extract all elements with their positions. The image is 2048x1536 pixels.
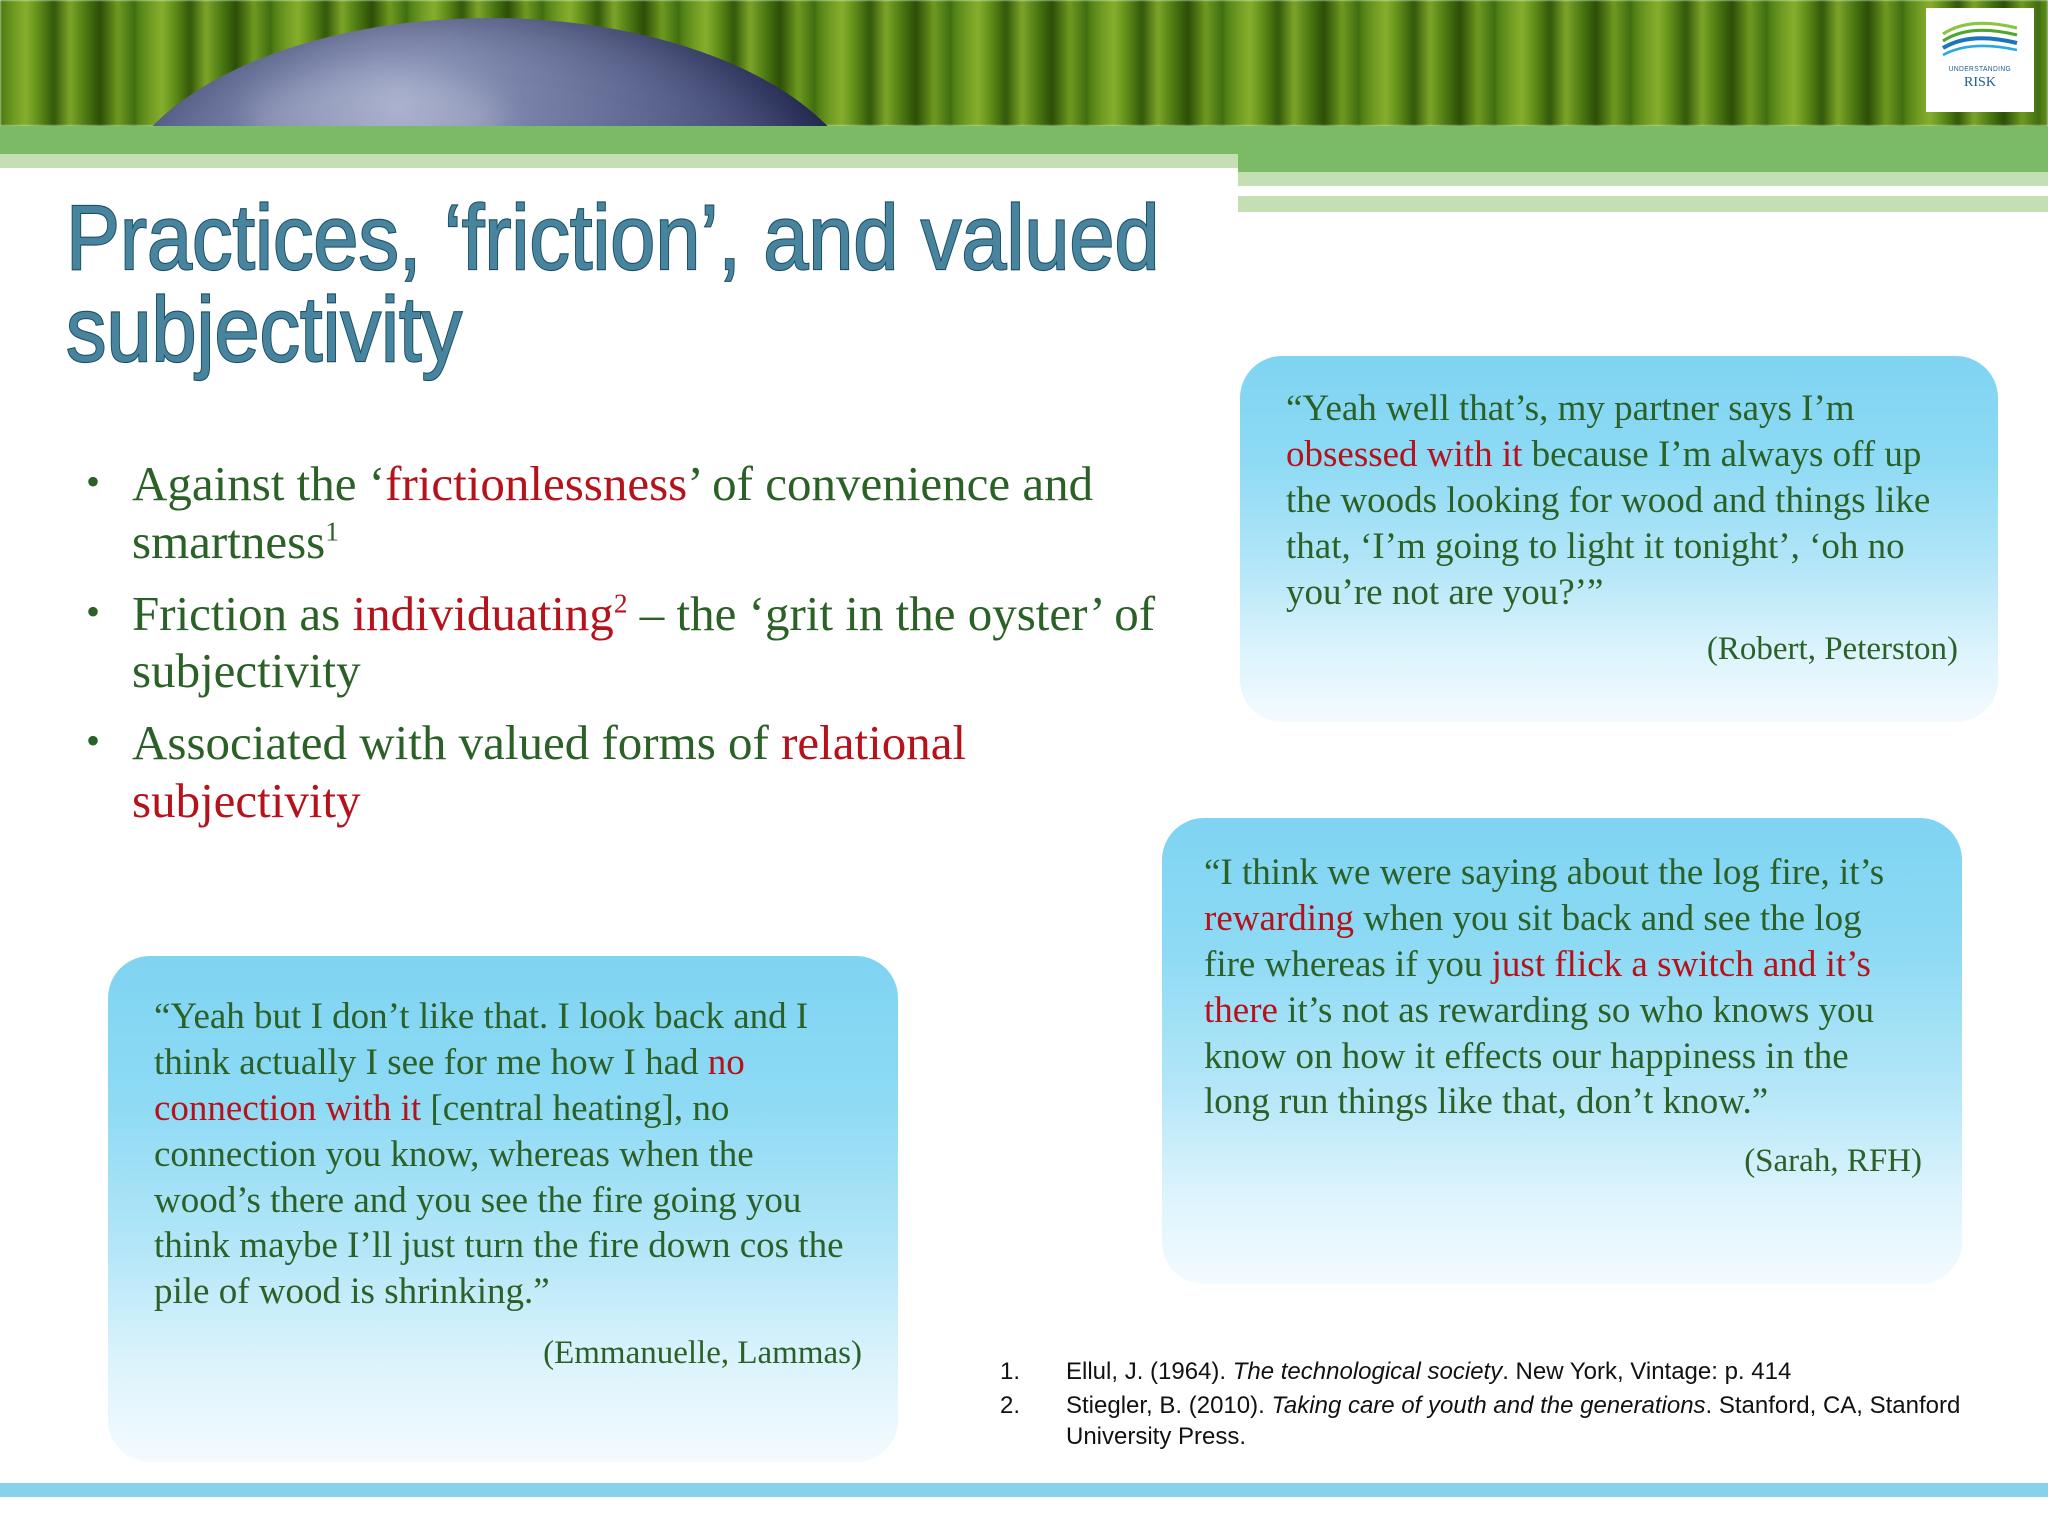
quote-attribution: (Robert, Peterston) bbox=[1286, 631, 1958, 668]
quote-box-emmanuelle: “Yeah but I don’t like that. I look back… bbox=[108, 956, 898, 1462]
green-band-right bbox=[1238, 126, 2048, 172]
bullet-text: Against the ‘frictionlessness’ of conven… bbox=[132, 455, 1176, 571]
quote-text: “Yeah but I don’t like that. I look back… bbox=[154, 994, 862, 1315]
footnote-item: 1. Ellul, J. (1964). The technological s… bbox=[1000, 1356, 2010, 1388]
pale-green-band-right-lower bbox=[1238, 196, 2048, 212]
footnote-list: 1. Ellul, J. (1964). The technological s… bbox=[1000, 1356, 2010, 1455]
quote-text: “I think we were saying about the log fi… bbox=[1204, 850, 1922, 1125]
bullet-marker: • bbox=[86, 455, 132, 509]
quote-attribution: (Sarah, RFH) bbox=[1204, 1143, 1922, 1180]
bullet-text: Friction as individuating2 – the ‘grit i… bbox=[132, 585, 1176, 701]
bullet-marker: • bbox=[86, 714, 132, 768]
header-banner bbox=[0, 0, 2048, 126]
logo-waves-icon bbox=[1941, 16, 2019, 60]
bullet-item: • Against the ‘frictionlessness’ of conv… bbox=[86, 455, 1176, 571]
logo-text-line2: RISK bbox=[1964, 75, 1996, 91]
quote-attribution: (Emmanuelle, Lammas) bbox=[154, 1335, 862, 1372]
footnote-number: 2. bbox=[1000, 1390, 1066, 1453]
pale-green-band-right-upper bbox=[1238, 172, 2048, 186]
organisation-logo: UNDERSTANDING RISK bbox=[1926, 8, 2034, 112]
bullet-marker: • bbox=[86, 585, 132, 639]
bullet-item: • Associated with valued forms of relati… bbox=[86, 714, 1176, 830]
quote-box-sarah: “I think we were saying about the log fi… bbox=[1162, 818, 1962, 1284]
quote-text: “Yeah well that’s, my partner says I’m o… bbox=[1286, 386, 1958, 615]
slide-title: Practices, ‘friction’, and valued subjec… bbox=[66, 192, 1228, 376]
bullet-item: • Friction as individuating2 – the ‘grit… bbox=[86, 585, 1176, 701]
footnote-number: 1. bbox=[1000, 1356, 1066, 1388]
bullet-list: • Against the ‘frictionlessness’ of conv… bbox=[86, 455, 1176, 844]
footnote-text: Stiegler, B. (2010). Taking care of yout… bbox=[1066, 1390, 2010, 1453]
bullet-text: Associated with valued forms of relation… bbox=[132, 714, 1176, 830]
footnote-item: 2. Stiegler, B. (2010). Taking care of y… bbox=[1000, 1390, 2010, 1453]
quote-box-robert: “Yeah well that’s, my partner says I’m o… bbox=[1240, 356, 1998, 722]
logo-text-line1: UNDERSTANDING bbox=[1949, 66, 2011, 73]
footnote-text: Ellul, J. (1964). The technological soci… bbox=[1066, 1356, 2010, 1388]
pale-green-band-left bbox=[0, 154, 1238, 168]
footer-accent-bar bbox=[0, 1483, 2048, 1497]
